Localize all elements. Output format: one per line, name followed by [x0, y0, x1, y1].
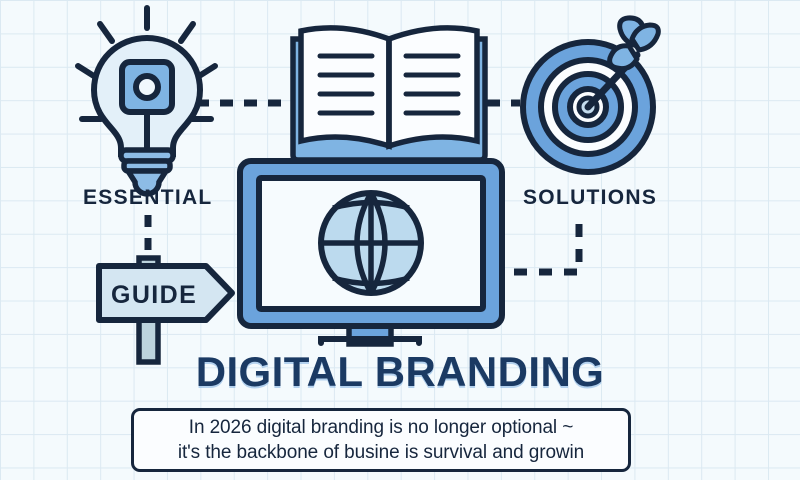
book-page-right [389, 28, 477, 146]
arrow-fletching-lower [610, 46, 637, 69]
arrow-fletching-right [632, 25, 658, 50]
page-title: DIGITAL BRANDING [0, 348, 800, 396]
label-solutions: SOLUTIONS [523, 186, 657, 210]
infographic-canvas: ESSENTIAL SOLUTIONS GUIDE DIGITAL BRANDI… [0, 0, 800, 480]
globe-graticule [321, 193, 421, 293]
signpost-label-guide: GUIDE [111, 281, 197, 310]
bulb-inner-circle [136, 76, 158, 98]
monitor-globe-icon [240, 161, 502, 344]
book-page-left [301, 28, 389, 146]
caption-text: In 2026 digital branding is no longer op… [178, 415, 584, 465]
target-arrow-icon [523, 18, 658, 172]
monitor-to-solutions-dashed [514, 218, 579, 272]
open-book-icon [293, 28, 485, 160]
globe-icon [321, 193, 421, 293]
lightbulb-icon [78, 8, 215, 194]
guide-signpost-icon [99, 258, 232, 362]
label-essential: ESSENTIAL [83, 186, 213, 210]
caption-box: In 2026 digital branding is no longer op… [131, 408, 631, 472]
